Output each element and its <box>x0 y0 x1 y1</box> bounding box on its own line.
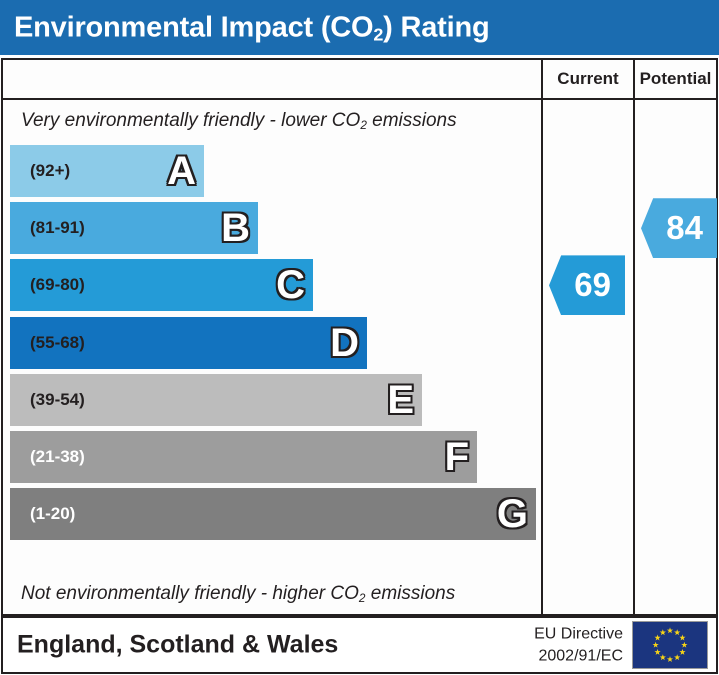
rating-band-list: (92+)A(81-91)B(69-80)C(55-68)D(39-54)E(2… <box>10 145 536 582</box>
rating-band-a: (92+)A <box>10 145 204 197</box>
caption-top-prefix: Very environmentally friendly - lower CO <box>21 110 360 131</box>
rating-band-e: (39-54)E <box>10 374 422 426</box>
rating-band-letter-g: G <box>497 494 528 534</box>
rating-band-letter-f: F <box>445 437 469 477</box>
caption-bottom-subscript: 2 <box>359 592 366 605</box>
rating-band-range-g: (1-20) <box>30 504 75 524</box>
rating-band-range-f: (21-38) <box>30 447 85 467</box>
page-title: Environmental Impact (CO2) Rating <box>14 11 490 44</box>
page-title-prefix: Environmental Impact (CO <box>14 11 373 43</box>
caption-bottom-suffix: emissions <box>365 583 455 604</box>
potential-rating-marker: 84 <box>641 198 717 258</box>
rating-band-f: (21-38)F <box>10 431 477 483</box>
current-rating-marker: 69 <box>549 255 625 315</box>
rating-band-letter-a: A <box>167 151 196 191</box>
rating-band-b: (81-91)B <box>10 202 258 254</box>
rating-band-letter-c: C <box>276 265 305 305</box>
caption-bottom-prefix: Not environmentally friendly - higher CO <box>21 583 359 604</box>
page-title-suffix: ) Rating <box>383 11 489 43</box>
column-header-row: Current Potential <box>3 60 716 100</box>
column-divider-potential <box>633 100 635 614</box>
footer-directive-line1: EU Directive <box>534 623 623 645</box>
rating-band-d: (55-68)D <box>10 317 367 369</box>
rating-band-range-e: (39-54) <box>30 390 85 410</box>
caption-top-subscript: 2 <box>360 119 367 132</box>
footer-directive-line2: 2002/91/EC <box>534 645 623 667</box>
column-header-current: Current <box>541 60 633 98</box>
rating-band-range-c: (69-80) <box>30 275 85 295</box>
chart-frame: Current Potential Very environmentally f… <box>1 58 718 616</box>
current-rating-value: 69 <box>574 266 611 304</box>
chart-title-bar: Environmental Impact (CO2) Rating <box>0 0 719 57</box>
column-header-potential: Potential <box>633 60 716 98</box>
footer-region-label: England, Scotland & Wales <box>17 631 338 660</box>
rating-band-range-b: (81-91) <box>30 218 85 238</box>
eu-flag-icon <box>632 621 708 669</box>
page-title-subscript: 2 <box>373 24 383 44</box>
caption-top-suffix: emissions <box>367 110 457 131</box>
epc-environmental-impact-chart: Environmental Impact (CO2) Rating Curren… <box>0 0 719 675</box>
column-divider-current <box>541 100 543 614</box>
rating-band-letter-e: E <box>387 380 414 420</box>
rating-band-letter-d: D <box>330 323 359 363</box>
caption-bottom: Not environmentally friendly - higher CO… <box>21 583 455 605</box>
footer-directive: EU Directive 2002/91/EC <box>534 623 623 666</box>
caption-top: Very environmentally friendly - lower CO… <box>21 110 457 132</box>
chart-footer: England, Scotland & Wales EU Directive 2… <box>1 616 718 674</box>
rating-band-letter-b: B <box>221 208 250 248</box>
potential-rating-value: 84 <box>666 209 703 247</box>
rating-band-range-a: (92+) <box>30 161 70 181</box>
rating-band-range-d: (55-68) <box>30 333 85 353</box>
rating-band-c: (69-80)C <box>10 259 313 311</box>
rating-band-g: (1-20)G <box>10 488 536 540</box>
